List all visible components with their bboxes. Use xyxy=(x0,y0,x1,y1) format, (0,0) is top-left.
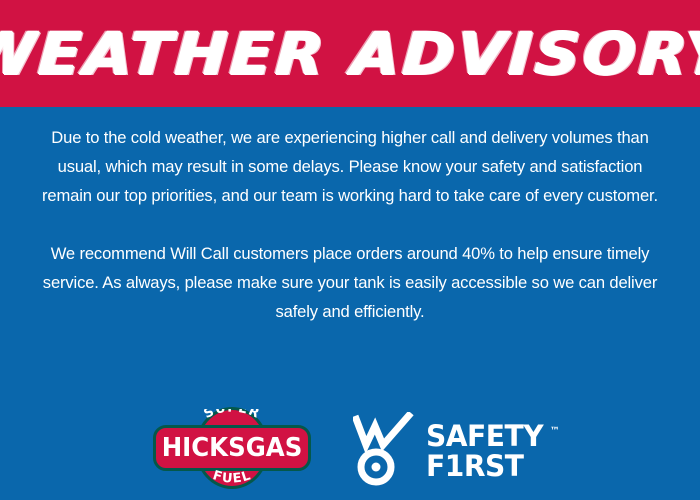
bullseye-target-icon xyxy=(357,448,395,486)
svg-text:SUPER: SUPER xyxy=(202,409,263,422)
safety-first-mark xyxy=(353,412,417,484)
logo-row: SUPER HICKSGAS FUEL SAFETY F1RST xyxy=(0,404,700,492)
weather-advisory-card: WEATHER ADVISORY Due to the cold weather… xyxy=(0,0,700,500)
hicksgas-super-text: SUPER xyxy=(202,409,263,422)
advisory-paragraph-2: We recommend Will Call customers place o… xyxy=(40,239,660,326)
hicksgas-wordmark: HICKSGAS xyxy=(158,430,307,466)
hicksgas-fuel-text: FUEL xyxy=(211,468,253,487)
trademark-symbol: ™ xyxy=(550,417,560,447)
hicksgas-logo: SUPER HICKSGAS FUEL xyxy=(153,406,311,490)
svg-text:FUEL: FUEL xyxy=(211,468,253,487)
hicksgas-super-arc: SUPER xyxy=(190,409,274,431)
hicksgas-fuel-arc: FUEL xyxy=(190,466,274,488)
safety-first-wordmark: SAFETY F1RST ™ xyxy=(426,415,547,481)
safety-first-line-2: F1RST xyxy=(426,451,543,481)
advisory-paragraph-1: Due to the cold weather, we are experien… xyxy=(40,123,660,210)
safety-first-logo: SAFETY F1RST ™ xyxy=(353,410,547,486)
advisory-header-banner: WEATHER ADVISORY xyxy=(0,0,700,107)
safety-first-line-1: SAFETY xyxy=(426,421,543,451)
page-title: WEATHER ADVISORY xyxy=(0,25,700,83)
checkmark-swoosh-icon xyxy=(353,412,417,452)
